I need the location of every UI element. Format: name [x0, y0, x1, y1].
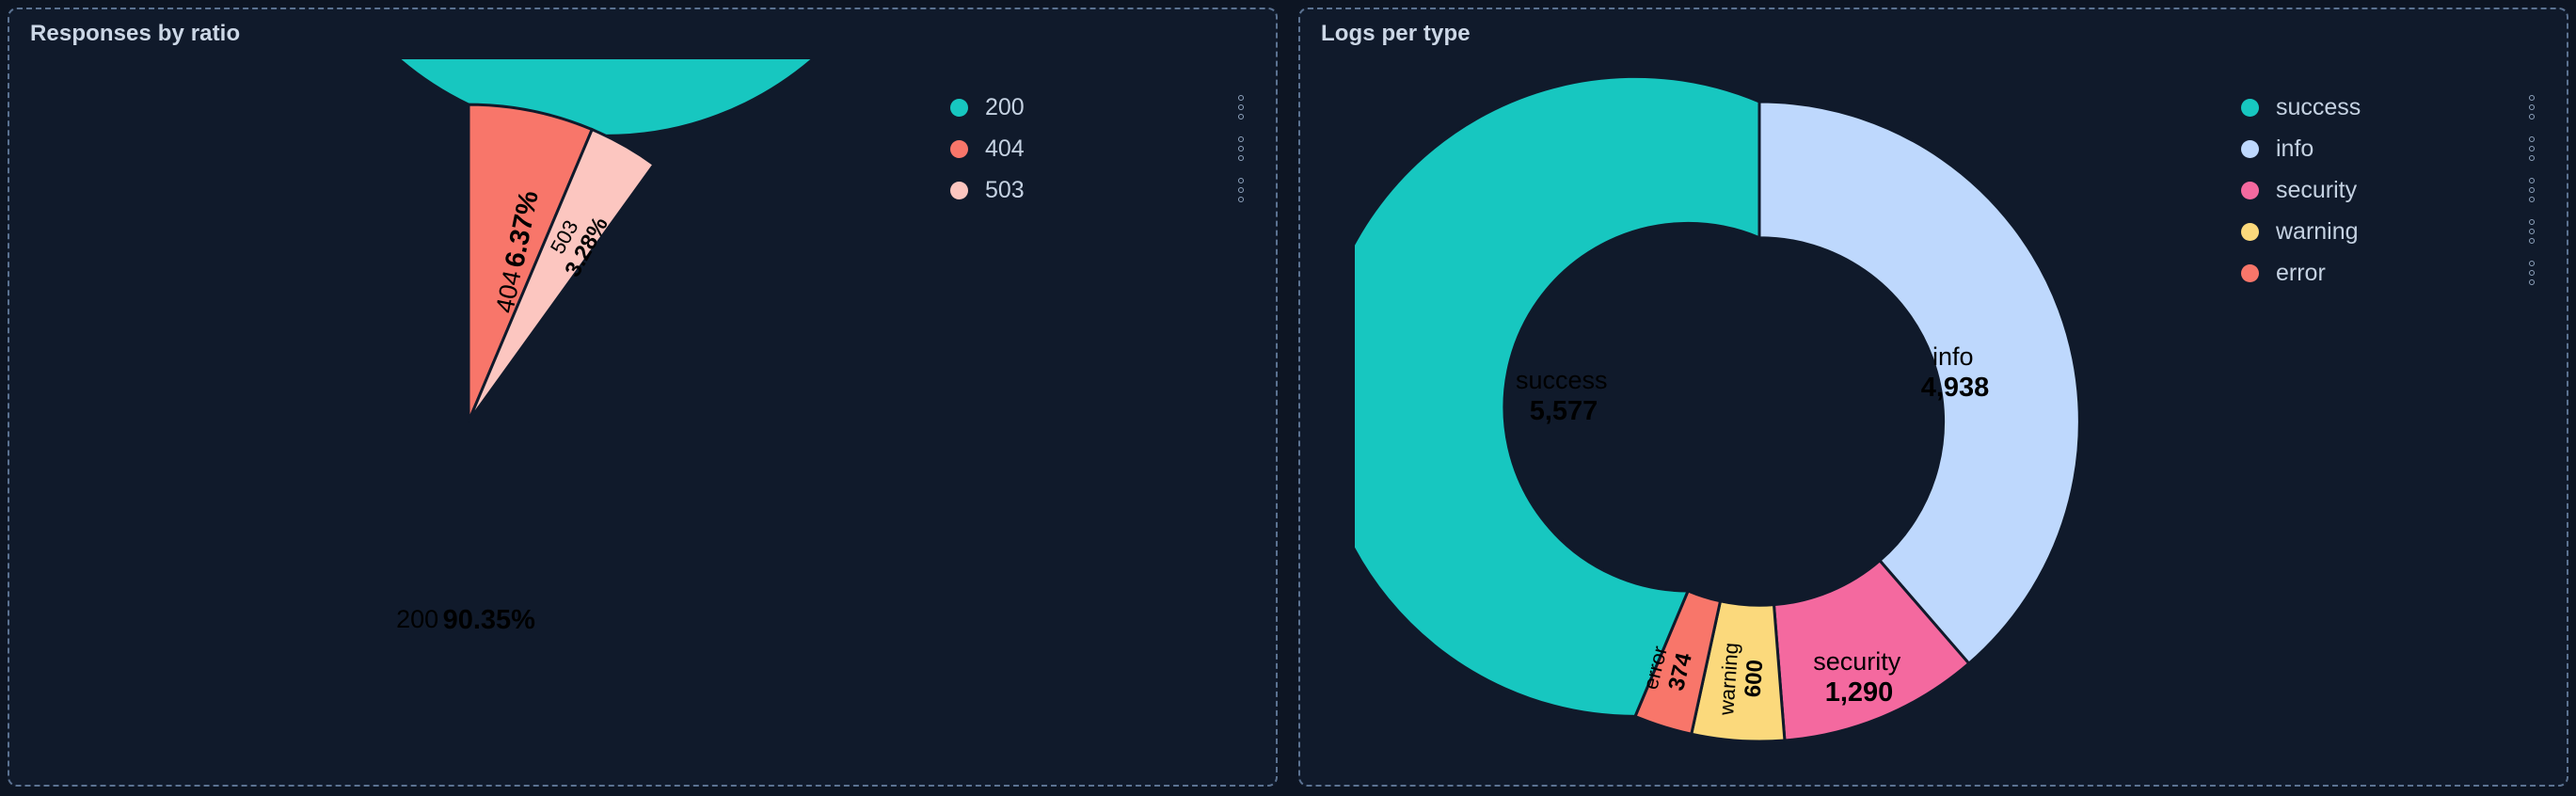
legend-color-swatch-icon [950, 99, 968, 117]
kebab-menu-icon[interactable] [2521, 95, 2542, 119]
dashboard-root: Responses by ratio 404 6.37% [0, 0, 2576, 796]
legend-item-label: warning [2276, 218, 2521, 246]
legend-color-swatch-icon [950, 140, 968, 158]
panel-body: info 4,938 success 5,577 security 1,290 [1300, 58, 2567, 785]
kebab-menu-icon[interactable] [2521, 261, 2542, 285]
panel-logs-per-type: Logs per type [1298, 8, 2568, 787]
legend-item-label: error [2276, 260, 2521, 287]
kebab-menu-icon[interactable] [1231, 136, 1251, 161]
kebab-menu-icon[interactable] [2521, 178, 2542, 202]
legend-item-error[interactable]: error [2241, 252, 2553, 294]
donut-slice-info[interactable] [1759, 102, 2079, 663]
panel-body: 404 6.37% 503 3.28% 200 90.35% [9, 58, 1276, 785]
legend-item-warning[interactable]: warning [2241, 211, 2553, 252]
panel-header: Logs per type [1300, 9, 2567, 58]
page-title: Responses by ratio [30, 21, 240, 47]
panel-responses-by-ratio: Responses by ratio 404 6.37% [8, 8, 1278, 787]
kebab-menu-icon[interactable] [1231, 178, 1251, 202]
legend-item-503[interactable]: 503 [950, 169, 1263, 211]
legend-color-swatch-icon [2241, 140, 2259, 158]
page-title: Logs per type [1321, 21, 1471, 47]
chart-legend-logs: success info security warning [2218, 58, 2567, 294]
pie-chart-responses[interactable]: 404 6.37% 503 3.28% 200 90.35% [9, 58, 928, 785]
legend-item-404[interactable]: 404 [950, 128, 1263, 169]
legend-item-label: info [2276, 135, 2521, 163]
legend-color-swatch-icon [2241, 264, 2259, 282]
kebab-menu-icon[interactable] [2521, 136, 2542, 161]
legend-color-swatch-icon [2241, 223, 2259, 241]
donut-slice-label-security: security 1,290 [1813, 647, 1904, 708]
donut-chart-svg[interactable]: info 4,938 success 5,577 security 1,290 [1355, 59, 2164, 784]
legend-item-label: success [2276, 94, 2521, 121]
legend-item-label: 404 [985, 135, 1231, 163]
donut-chart-logs[interactable]: info 4,938 success 5,577 security 1,290 [1300, 58, 2218, 785]
legend-item-label: 503 [985, 177, 1231, 204]
chart-legend-responses: 200 404 503 [928, 58, 1276, 211]
legend-item-success[interactable]: success [2241, 87, 2553, 128]
legend-color-swatch-icon [2241, 99, 2259, 117]
legend-item-label: security [2276, 177, 2521, 204]
kebab-menu-icon[interactable] [2521, 219, 2542, 244]
panel-header: Responses by ratio [9, 9, 1276, 58]
legend-item-label: 200 [985, 94, 1231, 121]
pie-chart-svg[interactable]: 404 6.37% 503 3.28% 200 90.35% [64, 59, 873, 784]
legend-item-info[interactable]: info [2241, 128, 2553, 169]
legend-item-200[interactable]: 200 [950, 87, 1263, 128]
pie-slice-label-200: 200 90.35% [396, 605, 535, 635]
legend-item-security[interactable]: security [2241, 169, 2553, 211]
kebab-menu-icon[interactable] [1231, 95, 1251, 119]
legend-color-swatch-icon [950, 182, 968, 199]
donut-slice-label-success: success 5,577 [1516, 366, 1612, 426]
legend-color-swatch-icon [2241, 182, 2259, 199]
